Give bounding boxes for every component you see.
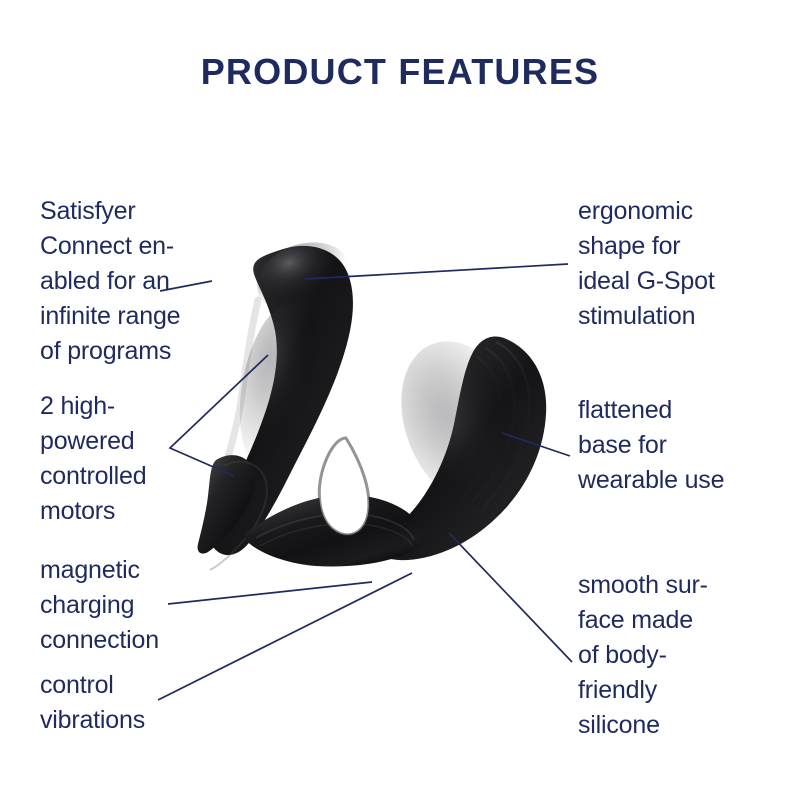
callout-smooth-surface-label: smooth sur- face made of body- friendly … xyxy=(578,568,708,743)
callout-magnetic-charging-label: magnetic charging connection xyxy=(40,553,159,658)
page-title: PRODUCT FEATURES xyxy=(0,52,800,92)
product-features-infographic: PRODUCT FEATURES xyxy=(0,0,800,800)
leader-line-magnetic xyxy=(168,582,372,604)
callout-ergonomic-shape-label: ergonomic shape for ideal G-Spot stimula… xyxy=(578,194,715,334)
product-illustration xyxy=(196,238,556,583)
callout-connect-label: Satisfyer Connect en- abled for an infin… xyxy=(40,194,180,369)
callout-control-vibrations-label: control vibrations xyxy=(40,668,145,738)
callout-motors-label: 2 high- powered controlled motors xyxy=(40,389,146,529)
leader-line-control xyxy=(158,573,412,700)
callout-flattened-base-label: flattened base for wearable use xyxy=(578,393,724,498)
